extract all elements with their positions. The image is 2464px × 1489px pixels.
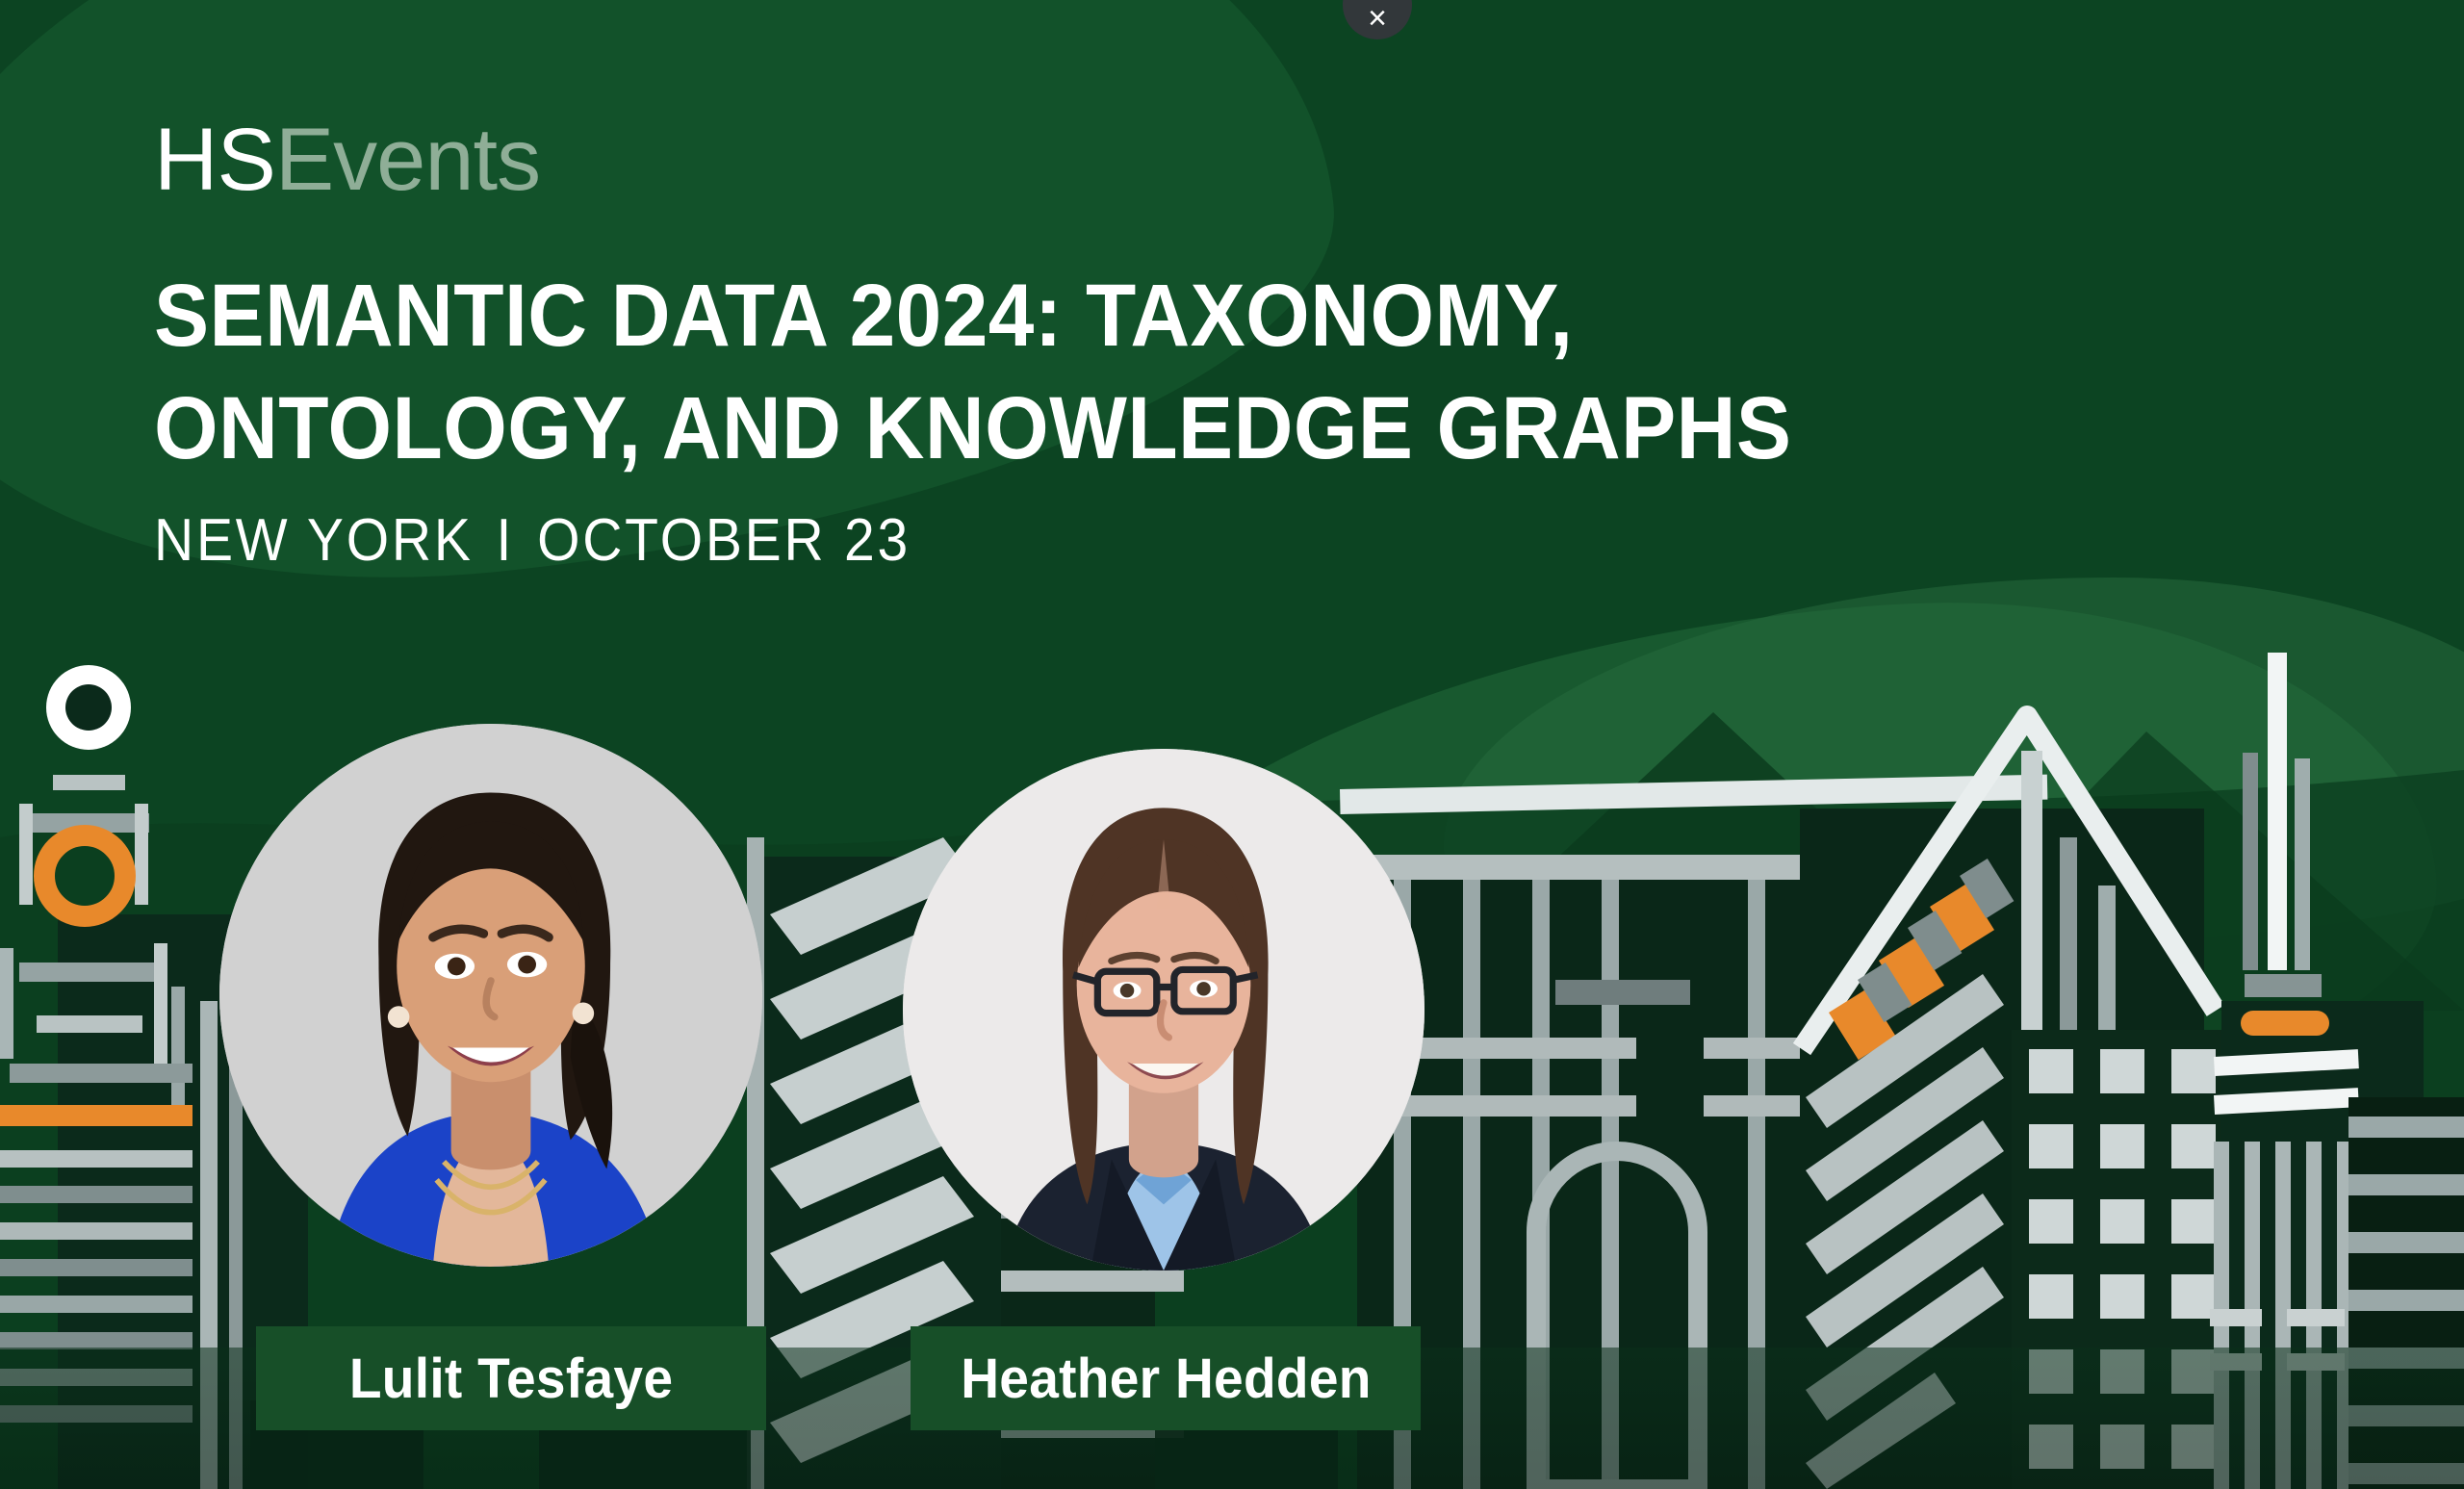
close-icon: × (1368, 2, 1387, 35)
speaker-nameplate: Lulit Tesfaye (256, 1326, 766, 1430)
logo-secondary-text: Events (275, 111, 540, 209)
meta-separator: I (474, 506, 537, 575)
event-meta: NEW YORKIOCTOBER 23 (154, 506, 2014, 575)
event-date: OCTOBER 23 (537, 507, 911, 574)
event-location: NEW YORK (154, 507, 474, 574)
speaker-nameplate: Heather Hedden (911, 1326, 1421, 1430)
logo-primary-text: HS (154, 111, 275, 209)
banner-header: HSEvents SEMANTIC DATA 2024: TAXONOMY, O… (154, 116, 2175, 575)
speaker-card-heather-hedden: Heather Hedden (903, 749, 1424, 1271)
event-banner: HSEvents SEMANTIC DATA 2024: TAXONOMY, O… (0, 0, 2464, 1489)
event-title-line-2: ONTOLOGY, AND KNOWLEDGE GRAPHS (154, 379, 1791, 477)
event-title-line-1: SEMANTIC DATA 2024: TAXONOMY, (154, 267, 1573, 365)
brand-logo: HSEvents (154, 116, 2175, 204)
speaker-portrait (219, 724, 762, 1267)
speaker-portrait (903, 749, 1424, 1271)
close-button[interactable]: × (1343, 0, 1412, 39)
speaker-name: Heather Hedden (961, 1347, 1372, 1411)
event-title: SEMANTIC DATA 2024: TAXONOMY, ONTOLOGY, … (154, 260, 1944, 485)
speaker-card-lulit-tesfaye: Lulit Tesfaye (219, 724, 762, 1267)
speaker-name: Lulit Tesfaye (349, 1347, 673, 1411)
